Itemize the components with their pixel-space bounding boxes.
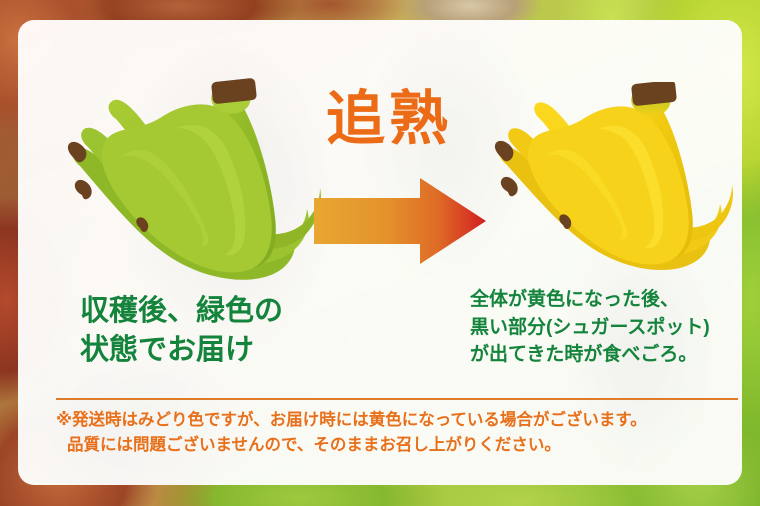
shipping-note: ※発送時はみどり色ですが、お届け時には黄色になっている場合がございます。 品質に… [56, 408, 647, 458]
banana-ripening-infographic: 追熟 [0, 0, 760, 506]
info-card-panel: 追熟 [18, 20, 742, 485]
note-divider [56, 398, 738, 400]
caption-ripe-eating: 全体が黄色になった後、 黒い部分(シュガースポット) が出てきた時が食べごろ。 [470, 286, 710, 369]
page-title-ripening: 追熟 [326, 90, 452, 149]
caption-left-line2: 状態でお届け [80, 331, 283, 370]
yellow-banana-bunch-icon [492, 82, 742, 282]
caption-right-line3: が出てきた時が食べごろ。 [470, 341, 710, 369]
right-arrow-icon [314, 178, 486, 264]
caption-right-line2: 黒い部分(シュガースポット) [470, 314, 710, 342]
note-line1: ※発送時はみどり色ですが、お届け時には黄色になっている場合がございます。 [56, 408, 647, 433]
caption-right-line1: 全体が黄色になった後、 [470, 286, 710, 314]
green-banana-bunch-icon [64, 78, 326, 292]
note-line2: 品質には問題ございませんので、そのままお召し上がりください。 [56, 433, 647, 458]
caption-left-line1: 収穫後、緑色の [80, 292, 283, 331]
caption-harvest-green: 収穫後、緑色の 状態でお届け [80, 292, 283, 369]
